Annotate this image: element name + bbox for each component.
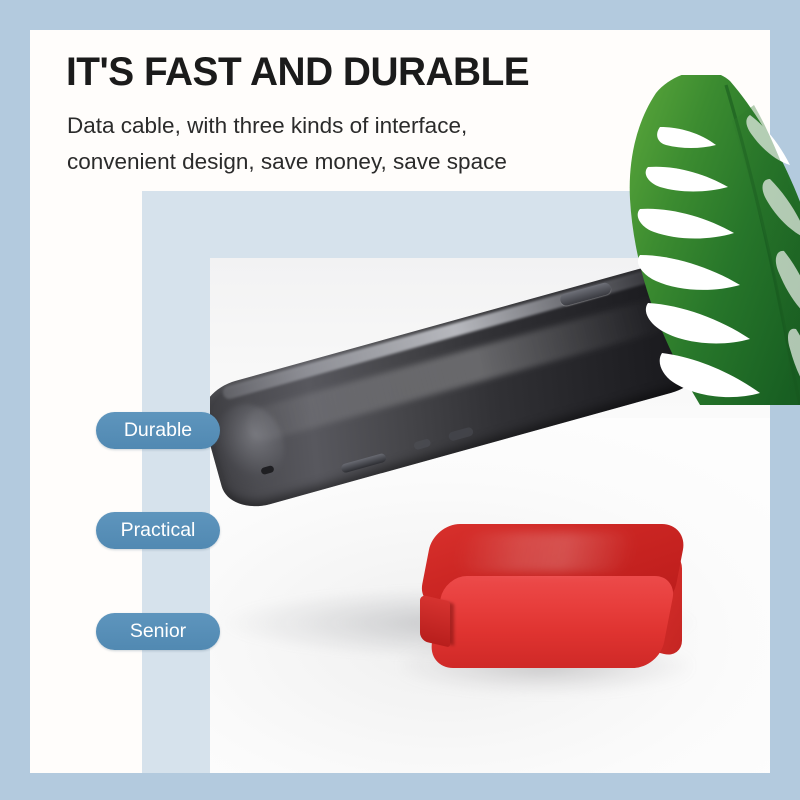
- feature-badge-durable[interactable]: Durable: [96, 412, 220, 449]
- product-banner: IT'S FAST AND DURABLE Data cable, with t…: [0, 0, 800, 800]
- subtitle: Data cable, with three kinds of interfac…: [67, 108, 687, 180]
- subtitle-line-1: Data cable, with three kinds of interfac…: [67, 108, 687, 144]
- badge-label: Durable: [124, 419, 192, 441]
- subtitle-line-2: convenient design, save money, save spac…: [67, 144, 687, 180]
- badge-label: Senior: [130, 620, 186, 642]
- product-photo: [210, 258, 770, 773]
- stand-highlight: [454, 532, 637, 572]
- badge-label: Practical: [121, 519, 196, 541]
- feature-badge-practical[interactable]: Practical: [96, 512, 220, 549]
- stand-cable-notch: [420, 595, 450, 648]
- banner-card: IT'S FAST AND DURABLE Data cable, with t…: [30, 30, 770, 773]
- page-title: IT'S FAST AND DURABLE: [66, 50, 706, 94]
- feature-badge-senior[interactable]: Senior: [96, 613, 220, 650]
- stand-front-face: [427, 576, 677, 668]
- red-silicone-stand: [418, 524, 686, 674]
